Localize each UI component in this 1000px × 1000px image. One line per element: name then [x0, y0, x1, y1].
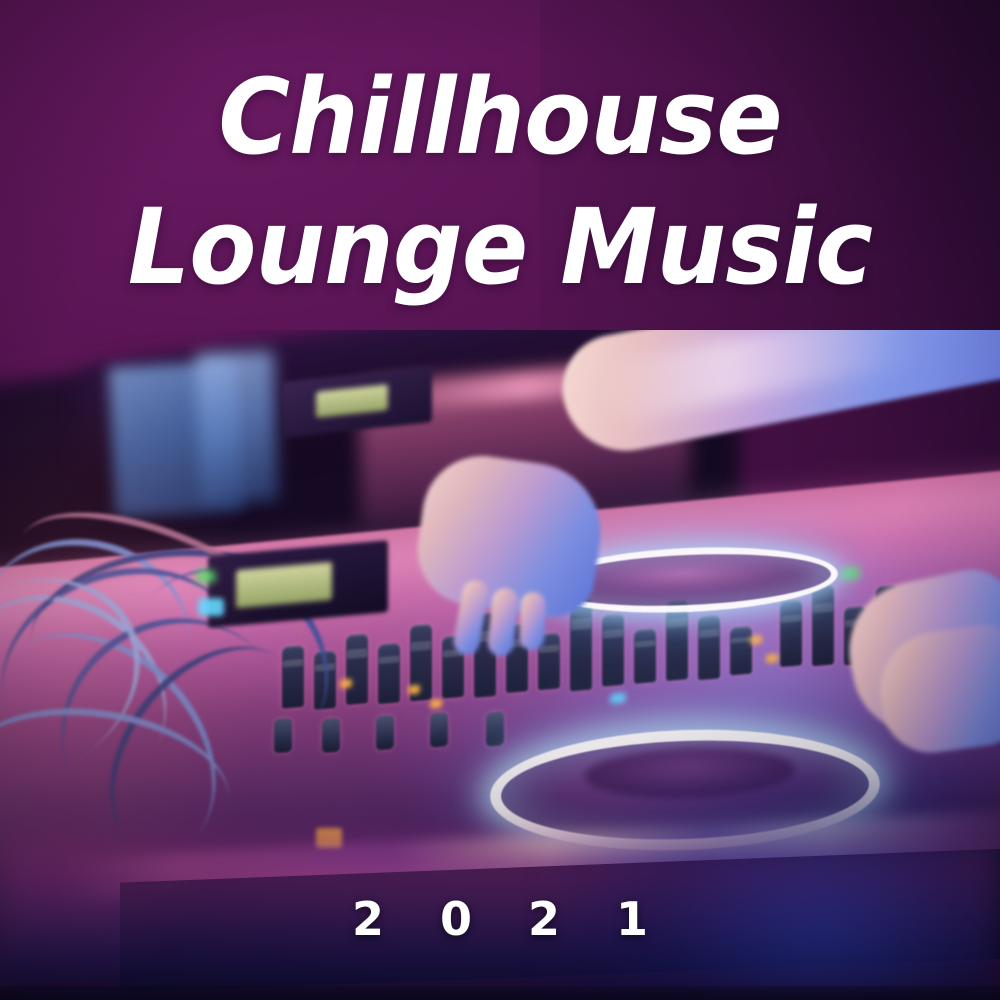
album-year: 2021	[0, 892, 1000, 946]
album-title-line-2: Lounge Music	[30, 182, 970, 312]
album-cover: Chillhouse Lounge Music 2021	[0, 0, 1000, 1000]
album-title-line-1: Chillhouse	[30, 52, 970, 182]
album-title: Chillhouse Lounge Music	[30, 52, 970, 312]
